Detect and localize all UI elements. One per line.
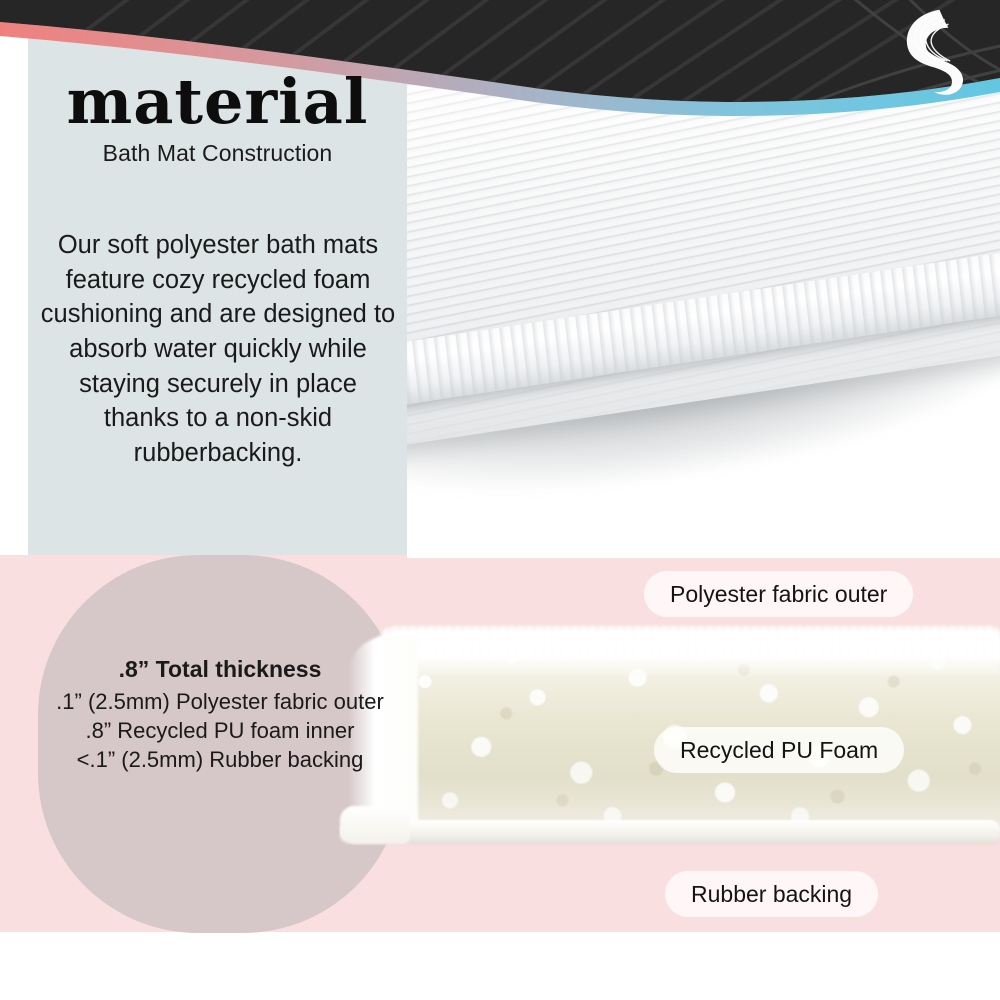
- page-subtitle: Bath Mat Construction: [28, 140, 407, 167]
- title-block: material Bath Mat Construction: [28, 72, 407, 167]
- description-paragraph: Our soft polyester bath mats feature coz…: [38, 228, 398, 471]
- callout-polyester-fabric-outer: Polyester fabric outer: [644, 571, 913, 617]
- spec-total-thickness: .8” Total thickness: [40, 655, 400, 685]
- callout-rubber-backing: Rubber backing: [665, 871, 878, 917]
- thickness-spec-block: .8” Total thickness .1” (2.5mm) Polyeste…: [40, 655, 400, 775]
- callout-recycled-pu-foam: Recycled PU Foam: [654, 727, 904, 773]
- spec-line-backing: <.1” (2.5mm) Rubber backing: [40, 745, 400, 774]
- spec-line-foam: .8” Recycled PU foam inner: [40, 716, 400, 745]
- foam-left-foot: [340, 806, 410, 844]
- spec-line-outer: .1” (2.5mm) Polyester fabric outer: [40, 687, 400, 716]
- infographic-canvas: material Bath Mat Construction Our soft …: [0, 0, 1000, 1000]
- foam-fabric-pile: [375, 626, 1000, 660]
- foam-backing-shadow: [340, 834, 1000, 844]
- page-title: material: [28, 72, 407, 133]
